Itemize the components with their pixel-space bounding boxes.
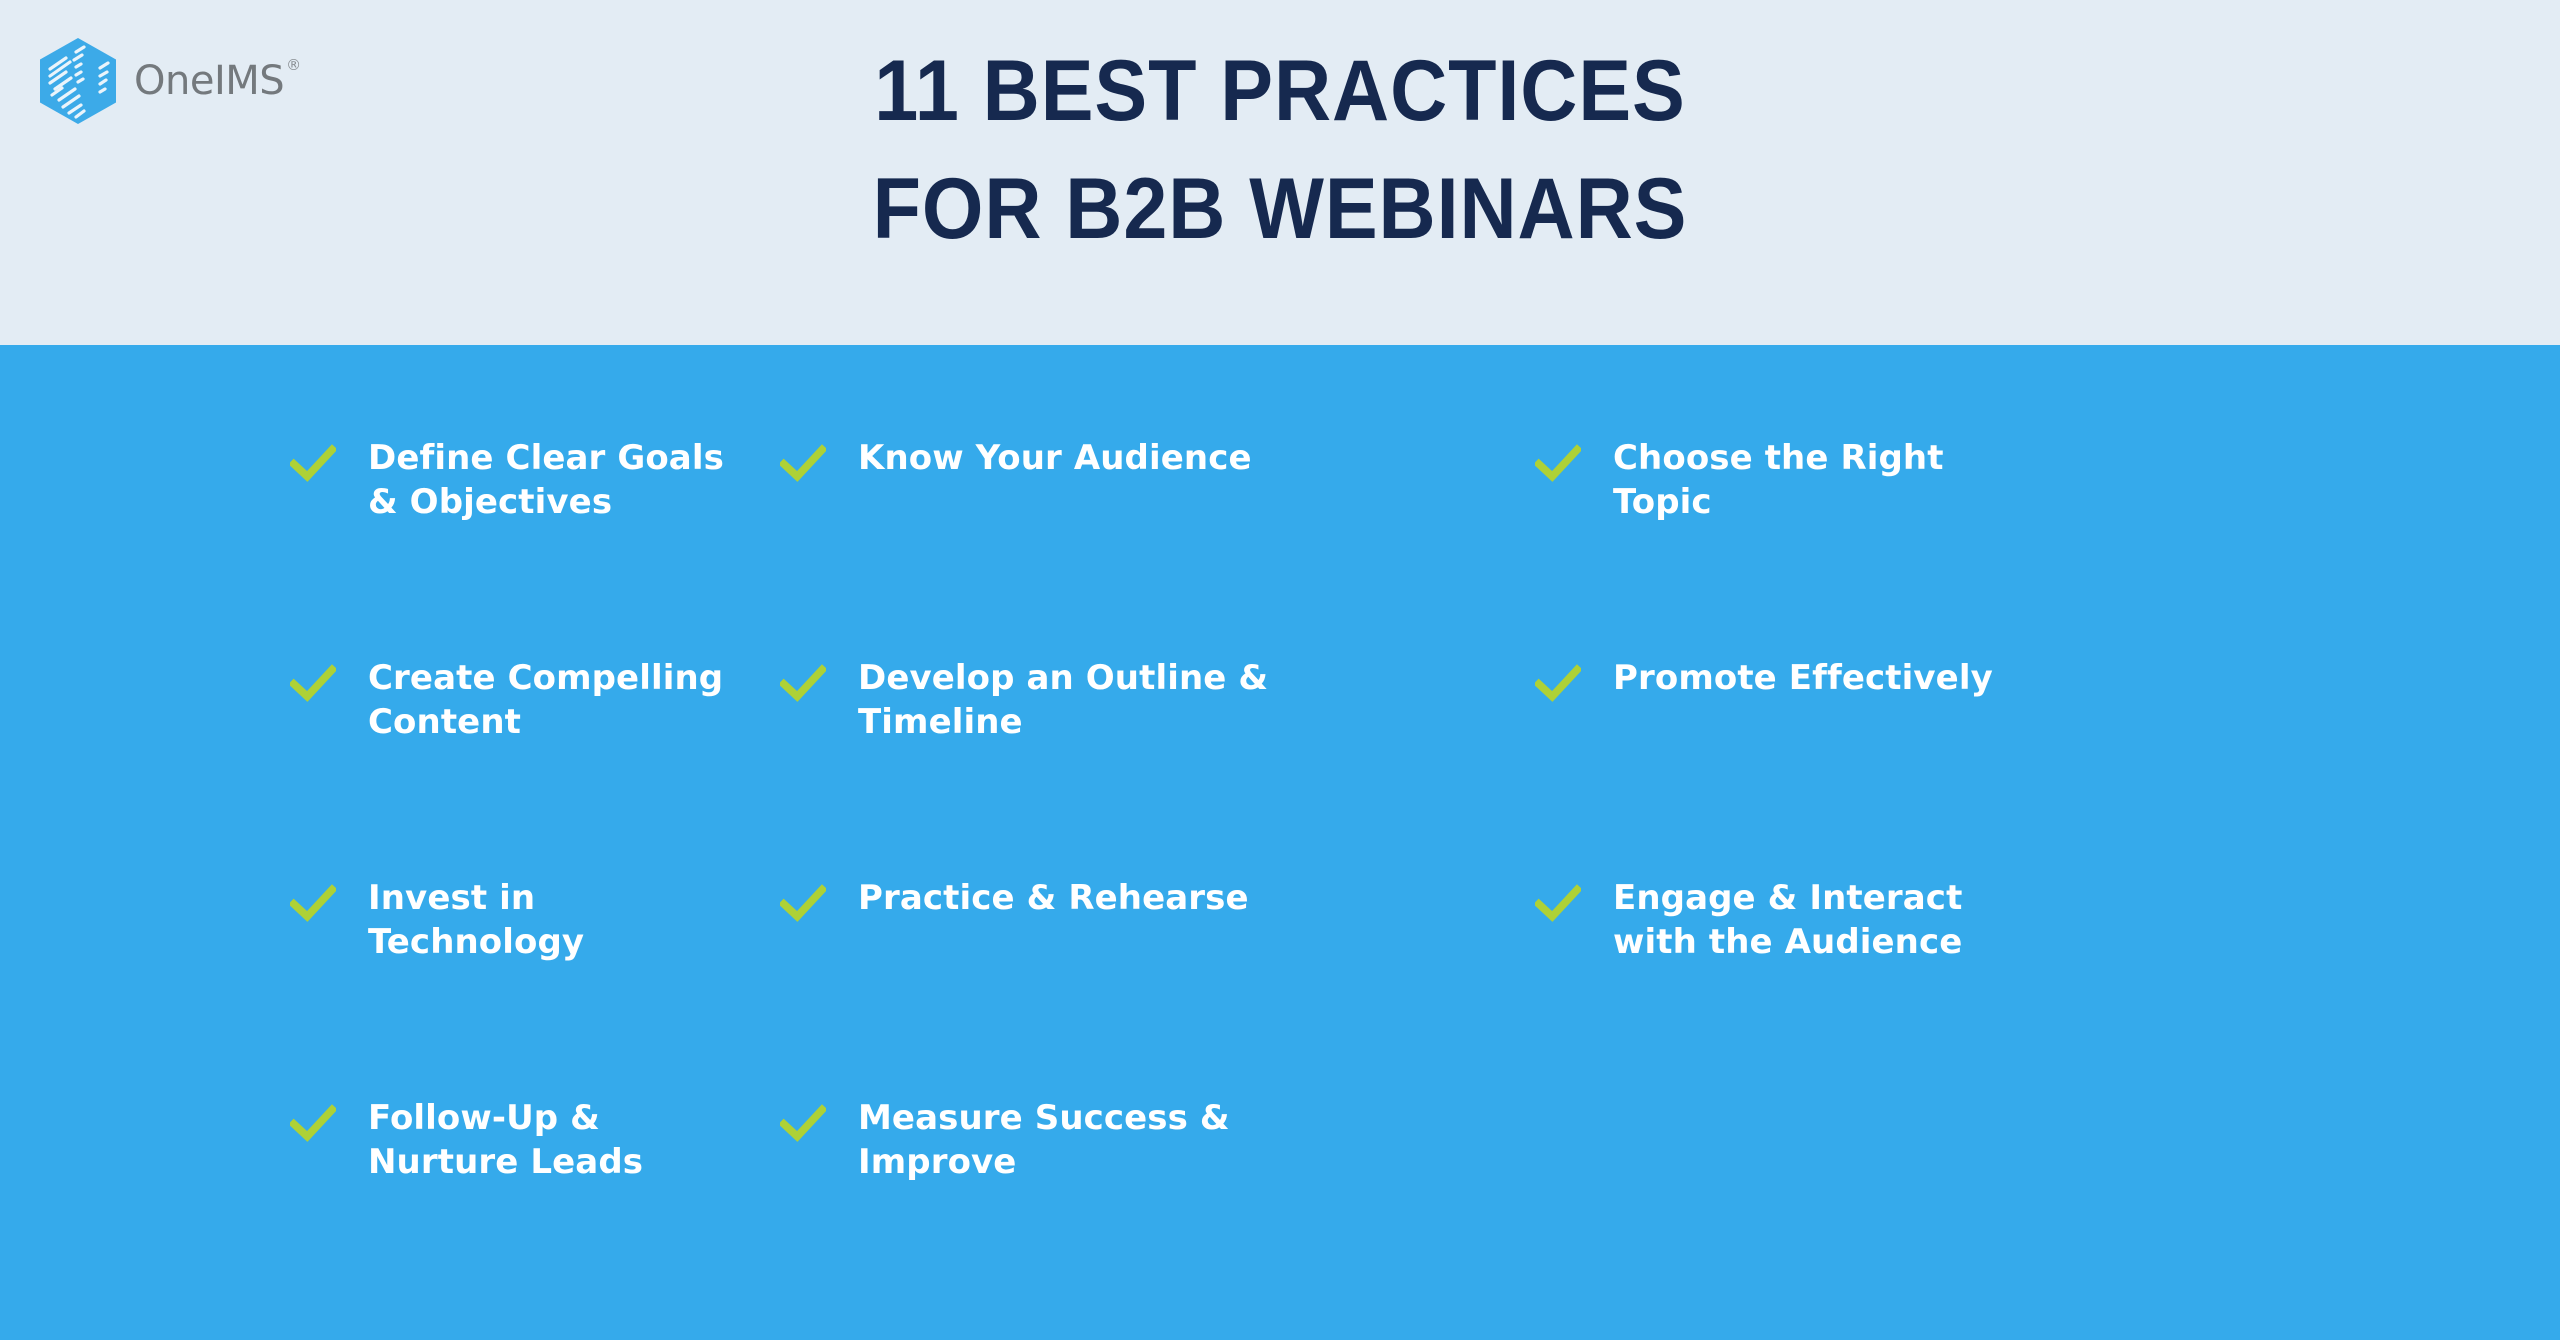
- list-item-label: Practice & Rehearse: [858, 877, 1249, 921]
- list-item-label: Promote Effectively: [1613, 657, 1993, 701]
- list-item[interactable]: Create Compelling Content: [290, 657, 750, 877]
- list-item[interactable]: Follow-Up & Nurture Leads: [290, 1097, 750, 1317]
- title-line-1: 11 Best Practices: [102, 48, 2457, 134]
- header-band: OneIMS® 11 Best Practices For B2B Webina…: [0, 0, 2560, 345]
- list-item-label: Define Clear Goals & Objectives: [368, 437, 750, 524]
- infographic-root: OneIMS® 11 Best Practices For B2B Webina…: [0, 0, 2560, 1340]
- practices-grid: Define Clear Goals & Objectives Create C…: [0, 345, 2560, 1340]
- check-icon: [1535, 881, 1581, 927]
- check-icon: [780, 661, 826, 707]
- list-item[interactable]: Invest in Technology: [290, 877, 750, 1097]
- check-icon: [290, 441, 336, 487]
- list-item[interactable]: Choose the Right Topic: [1535, 437, 2560, 657]
- check-icon: [780, 441, 826, 487]
- check-icon: [290, 1101, 336, 1147]
- check-icon: [780, 881, 826, 927]
- list-item-label: Follow-Up & Nurture Leads: [368, 1097, 750, 1184]
- check-icon: [780, 1101, 826, 1147]
- list-item-label: Develop an Outline & Timeline: [858, 657, 1288, 744]
- list-item[interactable]: Know Your Audience: [780, 437, 1500, 657]
- list-item-label: Measure Success & Improve: [858, 1097, 1288, 1184]
- practices-column-2: Know Your Audience Develop an Outline & …: [750, 437, 1500, 1340]
- practices-panel: Define Clear Goals & Objectives Create C…: [0, 345, 2560, 1340]
- check-icon: [1535, 661, 1581, 707]
- check-icon: [1535, 441, 1581, 487]
- list-item-label: Engage & Interact with the Audience: [1613, 877, 2043, 964]
- list-item[interactable]: Measure Success & Improve: [780, 1097, 1500, 1317]
- check-icon: [290, 881, 336, 927]
- list-item[interactable]: Develop an Outline & Timeline: [780, 657, 1500, 877]
- list-item[interactable]: Define Clear Goals & Objectives: [290, 437, 750, 657]
- practices-column-3: Choose the Right Topic Promote Effective…: [1500, 437, 2560, 1340]
- list-item-label: Invest in Technology: [368, 877, 750, 964]
- list-item[interactable]: Practice & Rehearse: [780, 877, 1500, 1097]
- check-icon: [290, 661, 336, 707]
- list-item-label: Know Your Audience: [858, 437, 1252, 481]
- practices-column-1: Define Clear Goals & Objectives Create C…: [0, 437, 750, 1340]
- list-item-label: Create Compelling Content: [368, 657, 750, 744]
- page-title: 11 Best Practices For B2B Webinars: [0, 48, 2560, 252]
- list-item[interactable]: Promote Effectively: [1535, 657, 2560, 877]
- list-item[interactable]: Engage & Interact with the Audience: [1535, 877, 2560, 1097]
- title-line-2: For B2B Webinars: [102, 166, 2457, 252]
- list-item-label: Choose the Right Topic: [1613, 437, 2043, 524]
